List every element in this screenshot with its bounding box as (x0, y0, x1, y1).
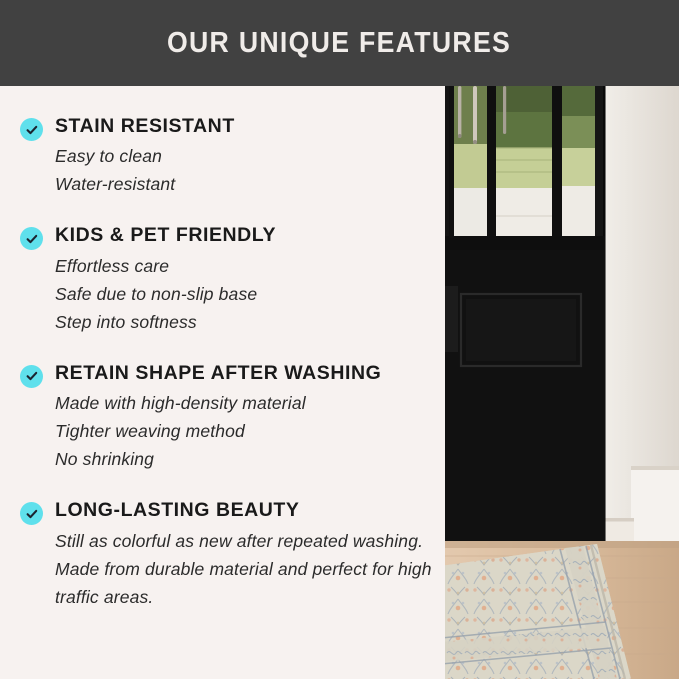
feature-heading: STAIN RESISTANT (55, 114, 439, 138)
feature-line: Water-resistant (55, 170, 439, 198)
check-circle-icon (20, 118, 43, 141)
feature-lines: Effortless care Safe due to non-slip bas… (55, 252, 439, 336)
feature-block: RETAIN SHAPE AFTER WASHING Made with hig… (18, 361, 439, 473)
feature-line: Tighter weaving method (55, 417, 439, 445)
feature-line: Still as colorful as new after repeated … (55, 527, 433, 611)
feature-lines: Easy to clean Water-resistant (55, 142, 439, 198)
feature-lines: Made with high-density material Tighter … (55, 389, 439, 473)
check-circle-icon (20, 227, 43, 250)
feature-line: Step into softness (55, 308, 439, 336)
features-panel: STAIN RESISTANT Easy to clean Water-resi… (0, 86, 445, 679)
feature-heading: KIDS & PET FRIENDLY (55, 223, 439, 247)
product-photo (445, 86, 679, 679)
page-title: OUR UNIQUE FEATURES (167, 27, 511, 60)
entryway-illustration (445, 86, 679, 679)
feature-block: KIDS & PET FRIENDLY Effortless care Safe… (18, 223, 439, 335)
header-bar: OUR UNIQUE FEATURES (0, 0, 679, 86)
concrete-patio (453, 188, 487, 236)
feature-block: LONG-LASTING BEAUTY Still as colorful as… (18, 498, 439, 610)
feature-heading: RETAIN SHAPE AFTER WASHING (55, 361, 439, 385)
feature-lines: Still as colorful as new after repeated … (55, 527, 439, 611)
feature-line: Safe due to non-slip base (55, 280, 439, 308)
feature-infographic: OUR UNIQUE FEATURES STAIN RESISTANT Easy… (0, 0, 679, 679)
feature-line: Easy to clean (55, 142, 439, 170)
door-glass-panes (445, 86, 605, 250)
feature-line: Made with high-density material (55, 389, 439, 417)
feature-line: No shrinking (55, 445, 439, 473)
feature-line: Effortless care (55, 252, 439, 280)
feature-block: STAIN RESISTANT Easy to clean Water-resi… (18, 114, 439, 198)
check-circle-icon (20, 502, 43, 525)
check-circle-icon (20, 365, 43, 388)
feature-heading: LONG-LASTING BEAUTY (55, 498, 439, 522)
